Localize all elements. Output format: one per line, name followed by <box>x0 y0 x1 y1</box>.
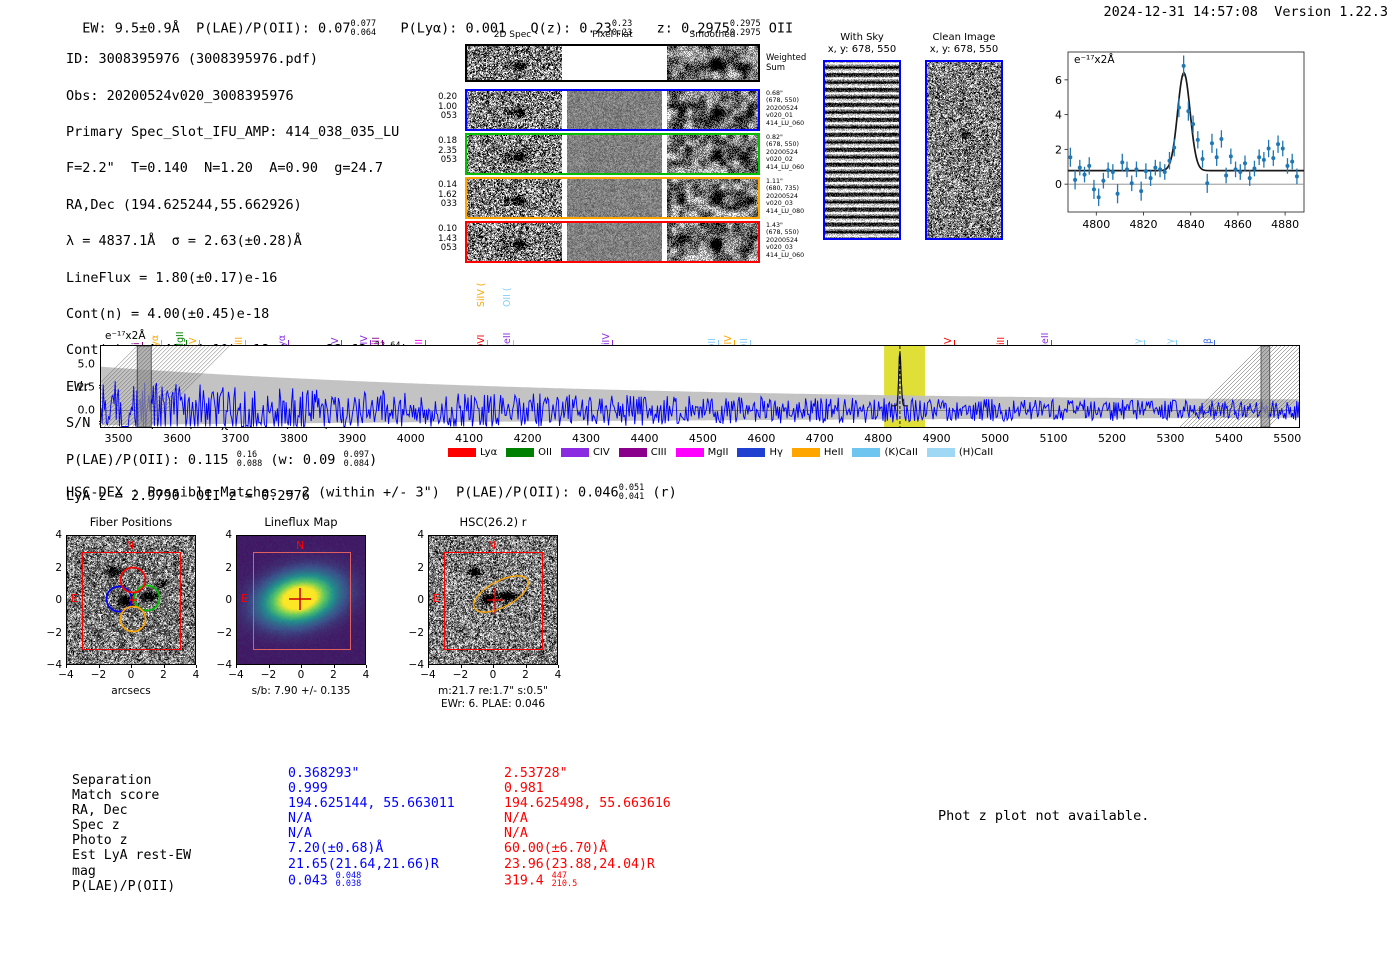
cutout-caption: m:21.7 re:1.7" s:0.5"EWr: 6. PLAE: 0.046 <box>393 685 593 711</box>
match-row-value: N/A <box>504 811 671 826</box>
source-ellipse <box>429 536 558 665</box>
match-row-label: RA, Dec <box>72 803 191 818</box>
match-row-value: N/A <box>288 811 455 826</box>
cutout-xtickmark <box>196 665 197 668</box>
match-row-value: N/A <box>504 826 671 841</box>
cutout-xtickmark <box>99 665 100 668</box>
cutout-title-0: Fiber Positions <box>46 515 216 529</box>
cutout-xtickmark <box>164 665 165 668</box>
match-table-col1: 0.368293"0.999194.625144, 55.663011N/AN/… <box>288 766 455 889</box>
match-row-value: 21.65(21.64,21.66)R <box>288 857 455 872</box>
cutout-xtickmark <box>558 665 559 668</box>
cutout-xtickmark <box>131 665 132 668</box>
cutout-ytick: −2 <box>46 627 62 639</box>
cutout-ytick: 2 <box>216 562 232 574</box>
cutout-image-1 <box>236 535 366 665</box>
cutout-ytick: −4 <box>216 659 232 671</box>
match-row-label: Photo z <box>72 833 191 848</box>
match-row-value: 0.043 0.0480.038 <box>288 872 455 889</box>
match-row-value: 194.625144, 55.663011 <box>288 796 455 811</box>
cutout-xtickmark <box>428 665 429 668</box>
cutout-caption: s/b: 7.90 +/- 0.135 <box>201 685 401 698</box>
match-row-label: Spec z <box>72 818 191 833</box>
match-row-value: 23.96(23.88,24.04)R <box>504 857 671 872</box>
cutout-xtick: −2 <box>261 669 276 681</box>
cutout-image-2 <box>428 535 558 665</box>
compass-east: E <box>433 592 440 605</box>
cutout-xtick: −2 <box>91 669 106 681</box>
cutout-xtickmark <box>236 665 237 668</box>
cutout-xtick: 0 <box>298 669 305 681</box>
cutout-xtick: 2 <box>160 669 167 681</box>
cutout-xtickmark <box>526 665 527 668</box>
match-row-label: Est LyA rest-EW <box>72 848 191 863</box>
match-row-label: Separation <box>72 773 191 788</box>
cutout-xtick: −2 <box>453 669 468 681</box>
cutout-ytick: 4 <box>408 529 424 541</box>
match-row-value: 0.999 <box>288 781 455 796</box>
cutout-xtick: 2 <box>522 669 529 681</box>
match-row-value: 194.625498, 55.663616 <box>504 796 671 811</box>
compass-east: E <box>241 592 248 605</box>
cutout-xtickmark <box>269 665 270 668</box>
cutout-ytick: 0 <box>46 594 62 606</box>
cutout-xtick: 4 <box>193 669 200 681</box>
cutout-xtickmark <box>366 665 367 668</box>
match-row-value: 7.20(±0.68)Å <box>288 841 455 856</box>
cutout-xtick: 0 <box>490 669 497 681</box>
cutout-ytick: 0 <box>408 594 424 606</box>
match-row-value: 0.368293" <box>288 766 455 781</box>
match-row-label: Match score <box>72 788 191 803</box>
match-row-label: mag <box>72 864 191 879</box>
cutout-xtickmark <box>461 665 462 668</box>
cutout-xtick: 0 <box>128 669 135 681</box>
compass-east: E <box>71 592 78 605</box>
match-row-value: 60.00(±6.70)Å <box>504 841 671 856</box>
cutout-panel-group: Fiber PositionsNE−4−2024420−2−4arcsecsLi… <box>0 0 1400 953</box>
cutout-xtick: 4 <box>555 669 562 681</box>
cutout-xtickmark <box>334 665 335 668</box>
cutout-xtickmark <box>66 665 67 668</box>
cutout-title-1: Lineflux Map <box>216 515 386 529</box>
cutout-ytick: 2 <box>46 562 62 574</box>
cutout-xtick: 4 <box>363 669 370 681</box>
compass-north: N <box>126 539 134 552</box>
cutout-ytick: −2 <box>408 627 424 639</box>
cutout-ytick: −4 <box>46 659 62 671</box>
match-row-value: 0.981 <box>504 781 671 796</box>
cutout-ytick: 4 <box>216 529 232 541</box>
match-row-value: 2.53728" <box>504 766 671 781</box>
match-row-value: N/A <box>288 826 455 841</box>
cutout-title-2: HSC(26.2) r <box>408 515 578 529</box>
match-table-labels: SeparationMatch scoreRA, DecSpec zPhoto … <box>72 773 191 894</box>
cutout-ytick: −2 <box>216 627 232 639</box>
compass-north: N <box>488 539 496 552</box>
match-row-value: 319.4 447210.5 <box>504 872 671 889</box>
match-row-label: P(LAE)/P(OII) <box>72 879 191 894</box>
photz-note: Phot z plot not available. <box>938 808 1149 824</box>
cutout-xtick: 2 <box>330 669 337 681</box>
compass-north: N <box>296 539 304 552</box>
cutout-ytick: −4 <box>408 659 424 671</box>
cutout-xtickmark <box>301 665 302 668</box>
fiber-circles <box>67 536 196 665</box>
cutout-image-0 <box>66 535 196 665</box>
region-box <box>253 552 351 650</box>
cutout-xtickmark <box>493 665 494 668</box>
match-table-col2: 2.53728"0.981194.625498, 55.663616N/AN/A… <box>504 766 671 889</box>
cutout-ytick: 0 <box>216 594 232 606</box>
cutout-ytick: 2 <box>408 562 424 574</box>
cutout-ytick: 4 <box>46 529 62 541</box>
